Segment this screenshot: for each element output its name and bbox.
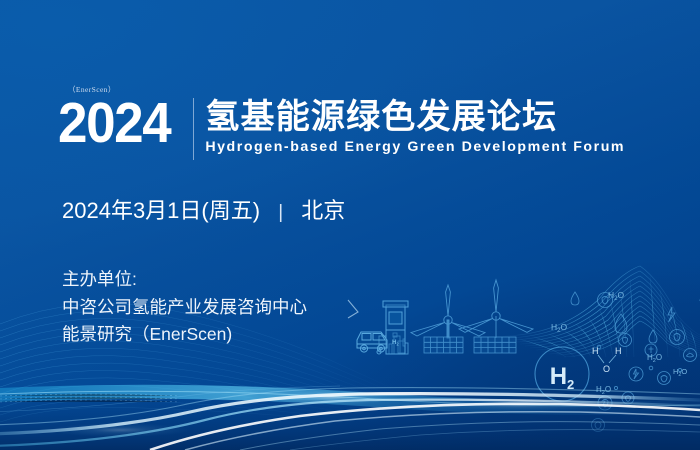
title-row: 2024 氢基能源绿色发展论坛 Hydrogen-based Energy Gr… <box>58 96 625 160</box>
year-heading: 2024 <box>58 96 170 150</box>
date-location-line: 2024年3月1日(周五) | 北京 <box>62 196 345 228</box>
event-city: 北京 <box>301 198 345 223</box>
host-block: 主办单位: 中咨公司氢能产业发展咨询中心 能景研究（EnerScen) <box>62 266 307 349</box>
poster-text-content: （EnerScen） 2024 氢基能源绿色发展论坛 Hydrogen-base… <box>0 0 700 450</box>
english-title: Hydrogen-based Energy Green Development … <box>205 138 625 156</box>
host-label: 主办单位: <box>62 266 307 294</box>
title-stack: 氢基能源绿色发展论坛 Hydrogen-based Energy Green D… <box>205 96 625 156</box>
chinese-title: 氢基能源绿色发展论坛 <box>205 97 625 137</box>
host-org-1: 中咨公司氢能产业发展咨询中心 <box>62 294 307 322</box>
date-location-separator: | <box>266 202 295 223</box>
event-date: 2024年3月1日(周五) <box>62 198 260 223</box>
title-divider <box>193 98 195 160</box>
host-org-2: 能景研究（EnerScen) <box>62 321 307 349</box>
conference-poster: H2 H2 <box>0 0 700 450</box>
